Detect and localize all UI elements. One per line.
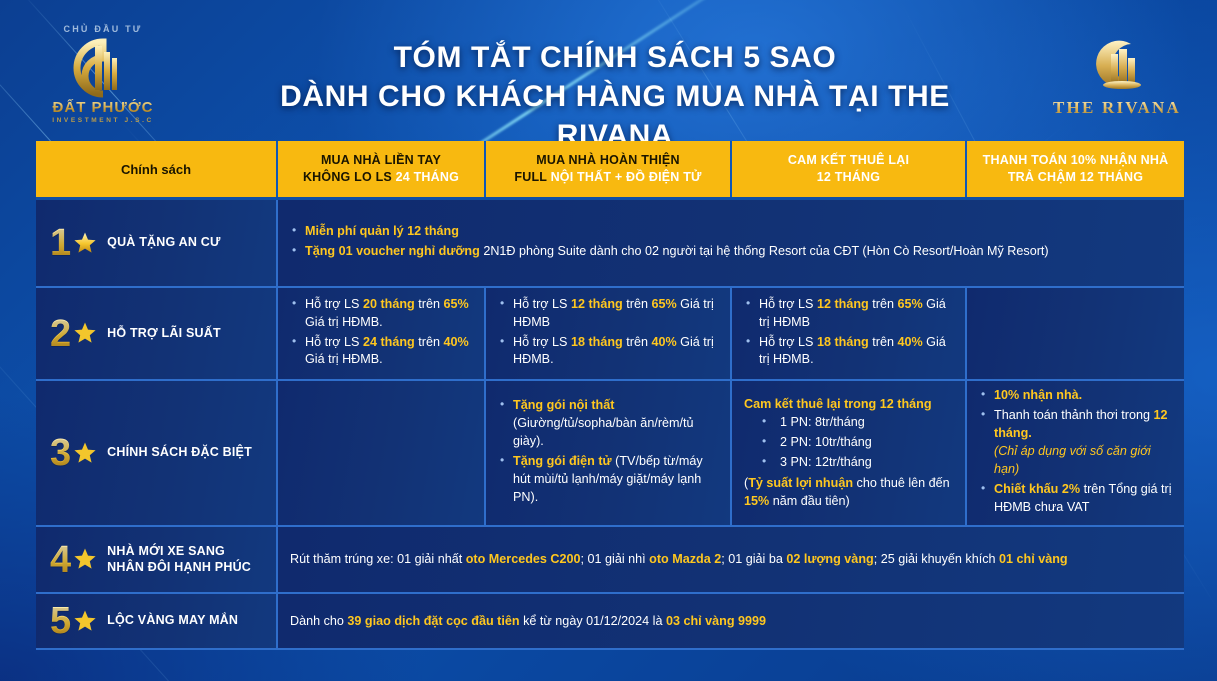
row-2-col-buy-now: Hỗ trợ LS 20 tháng trên 65% Giá trị HĐMB…	[278, 288, 486, 381]
title-line-1: TÓM TẮT CHÍNH SÁCH 5 SAO	[394, 41, 837, 74]
star-icon	[73, 231, 97, 260]
text-run: 65%	[651, 297, 676, 311]
row-5-text: Dành cho 39 giao dịch đặt cọc đầu tiên k…	[290, 612, 1172, 631]
table-row: 2 HỖ TRỢ LÃI SUẤT Hỗ trợ LS 20 tháng trê…	[36, 288, 1184, 381]
col2-line1: MUA NHÀ LIỀN TAY	[321, 153, 441, 167]
list-item: Tặng 01 voucher nghỉ dưỡng 2N1Đ phòng Su…	[290, 243, 1172, 261]
star-icon	[73, 547, 97, 576]
text-run: 39 giao dịch đặt cọc đầu tiên	[347, 614, 519, 628]
row-4-label: 4 NHÀ MỚI XE SANG NHÂN ĐÔI HẠNH PHÚC	[36, 527, 278, 594]
text-run: 01 chỉ vàng	[999, 552, 1068, 566]
row-2-col2-bullets: Hỗ trợ LS 20 tháng trên 65% Giá trị HĐMB…	[290, 296, 472, 372]
text-run: 65%	[897, 297, 922, 311]
row-3-col-full-furnished: Tặng gói nội thất (Giường/tủ/sopha/bàn ă…	[486, 381, 732, 527]
row-3-col-rental: Cam kết thuê lại trong 12 tháng 1 PN: 8t…	[732, 381, 967, 527]
col3-line2-white: NỘI THẤT + ĐỒ ĐIỆN TỬ	[551, 170, 702, 184]
column-header-buy-now: MUA NHÀ LIỀN TAY KHÔNG LO LS 24 THÁNG	[278, 141, 486, 197]
col5-line1: THANH TOÁN 10% NHẬN NHÀ	[983, 153, 1169, 167]
text-run: 40%	[443, 335, 468, 349]
text-run: ; 25 giải khuyến khích	[874, 552, 999, 566]
text-run: 12 tháng	[817, 297, 869, 311]
text-run: kể từ ngày 01/12/2024 là	[520, 614, 666, 628]
star-icon	[73, 609, 97, 638]
project-name: THE RIVANA	[1047, 98, 1187, 118]
text-run: Hỗ trợ LS	[305, 297, 363, 311]
row-1-content: Miễn phí quản lý 12 tháng Tặng 01 vouche…	[278, 200, 1184, 288]
col4-line1: CAM KẾT THUÊ LẠI	[788, 153, 909, 167]
row-1-label: 1 QUÀ TẶNG AN CƯ	[36, 200, 278, 288]
policy-table: Chính sách MUA NHÀ LIỀN TAY KHÔNG LO LS …	[36, 141, 1184, 650]
text-run: (Chỉ áp dụng với số căn giới hạn)	[994, 443, 1172, 479]
text-run: 20 tháng	[363, 297, 415, 311]
list-item: 3 PN: 12tr/tháng	[744, 454, 953, 472]
text-run: Hỗ trợ LS	[513, 297, 571, 311]
list-item: Tặng gói điện tử (TV/bếp từ/máy hút mùi/…	[498, 453, 718, 507]
text-run: Giá trị HĐMB.	[305, 315, 383, 329]
list-item: Hỗ trợ LS 18 tháng trên 40% Giá trị HĐMB…	[744, 334, 953, 370]
row-2-col4-bullets: Hỗ trợ LS 12 tháng trên 65% Giá trị HĐMB…	[744, 296, 953, 372]
text-run: 12 tháng	[571, 297, 623, 311]
text-run: 10% nhận nhà.	[994, 388, 1082, 402]
text-run: trên	[415, 335, 444, 349]
text-run: Thanh toán thảnh thơi trong	[994, 408, 1154, 422]
text-run: năm đầu tiên)	[769, 494, 850, 508]
text-run: cho thuê lên đến	[853, 476, 950, 490]
row-2-col-installment	[967, 288, 1184, 381]
row-2-col3-bullets: Hỗ trợ LS 12 tháng trên 65% Giá trị HĐMB…	[498, 296, 718, 372]
text-run: 15%	[744, 494, 769, 508]
row-3-rental-lead: Cam kết thuê lại trong 12 tháng	[744, 395, 953, 413]
row-5-label: 5 LỘC VÀNG MAY MẮN	[36, 594, 278, 650]
list-item: 1 PN: 8tr/tháng	[744, 414, 953, 432]
row-3-rental-items: 1 PN: 8tr/tháng 2 PN: 10tr/tháng 3 PN: 1…	[744, 414, 953, 474]
text-run: 40%	[651, 335, 676, 349]
list-item: 2 PN: 10tr/tháng	[744, 434, 953, 452]
star-icon	[73, 321, 97, 350]
list-item: Tặng gói nội thất (Giường/tủ/sopha/bàn ă…	[498, 397, 718, 451]
row-3-col-buy-now	[278, 381, 486, 527]
column-header-rental-commitment: CAM KẾT THUÊ LẠI 12 THÁNG	[732, 141, 967, 197]
text-run: Giá trị HĐMB.	[305, 352, 383, 366]
text-run: Rút thăm trúng xe: 01 giải nhất	[290, 552, 466, 566]
row-5-content: Dành cho 39 giao dịch đặt cọc đầu tiên k…	[278, 594, 1184, 650]
col3-line1: MUA NHÀ HOÀN THIỆN	[536, 153, 679, 167]
investor-logo: CHỦ ĐẦU TƯ ĐẤT PHƯỚC INVESTMENT J.S.C	[42, 24, 164, 124]
text-run: (Giường/tủ/sopha/bàn ăn/rèm/tủ giày).	[513, 416, 694, 448]
table-header-row: Chính sách MUA NHÀ LIỀN TAY KHÔNG LO LS …	[36, 141, 1184, 200]
list-item: Chiết khấu 2% trên Tổng giá trị HĐMB chư…	[979, 481, 1172, 517]
text-run: 18 tháng	[817, 335, 869, 349]
list-item: Thanh toán thảnh thơi trong 12 tháng.(Ch…	[979, 407, 1172, 479]
row-3-col-installment: 10% nhận nhà.Thanh toán thảnh thơi trong…	[967, 381, 1184, 527]
the-rivana-logo-icon	[1084, 36, 1150, 96]
row-4-content: Rút thăm trúng xe: 01 giải nhất oto Merc…	[278, 527, 1184, 594]
column-header-policy-label: Chính sách	[121, 162, 191, 177]
dat-phuoc-logo-icon	[67, 36, 139, 98]
text-run: Hỗ trợ LS	[513, 335, 571, 349]
text-run: oto Mercedes C200	[466, 552, 581, 566]
row-5-rank: 5	[50, 602, 71, 640]
text-run: trên	[623, 297, 652, 311]
text-run: ; 01 giải ba	[721, 552, 786, 566]
investor-subtitle: INVESTMENT J.S.C	[42, 117, 164, 124]
investor-name: ĐẤT PHƯỚC	[42, 99, 164, 116]
list-item: Hỗ trợ LS 12 tháng trên 65% Giá trị HĐMB	[498, 296, 718, 332]
text-run: trên	[869, 297, 898, 311]
table-row: 4 NHÀ MỚI XE SANG NHÂN ĐÔI HẠNH PHÚC Rút…	[36, 527, 1184, 594]
row-4-name: NHÀ MỚI XE SANG NHÂN ĐÔI HẠNH PHÚC	[107, 544, 251, 575]
row-1-bullets: Miễn phí quản lý 12 tháng Tặng 01 vouche…	[290, 223, 1172, 263]
col2-line2-dark: KHÔNG LO LS	[303, 170, 396, 184]
text-run: 24 tháng	[363, 335, 415, 349]
text-run: Tỷ suất lợi nhuận	[748, 476, 853, 490]
column-header-installment: THANH TOÁN 10% NHẬN NHÀ TRẢ CHẬM 12 THÁN…	[967, 141, 1184, 197]
row-1-rank: 1	[50, 224, 71, 262]
list-item: Hỗ trợ LS 24 tháng trên 40% Giá trị HĐMB…	[290, 334, 472, 370]
investor-caption: CHỦ ĐẦU TƯ	[42, 24, 164, 34]
col5-line2: TRẢ CHẬM 12 THÁNG	[1008, 170, 1143, 184]
row-2-col-rental: Hỗ trợ LS 12 tháng trên 65% Giá trị HĐMB…	[732, 288, 967, 381]
text-run: oto Mazda 2	[649, 552, 721, 566]
table-row: 5 LỘC VÀNG MAY MẮN Dành cho 39 giao dịch…	[36, 594, 1184, 650]
text-run: Chiết khấu 2%	[994, 482, 1080, 496]
row-3-rental-note: (Tỷ suất lợi nhuận cho thuê lên đến 15% …	[744, 474, 953, 512]
list-item: 10% nhận nhà.	[979, 387, 1172, 405]
list-item: Hỗ trợ LS 18 tháng trên 40% Giá trị HĐMB…	[498, 334, 718, 370]
row-3-col5-bullets: 10% nhận nhà.Thanh toán thảnh thơi trong…	[979, 387, 1172, 518]
row-2-rank: 2	[50, 315, 71, 353]
text-run: 18 tháng	[571, 335, 623, 349]
row-3-col3-bullets: Tặng gói nội thất (Giường/tủ/sopha/bàn ă…	[498, 397, 718, 508]
text-run: 65%	[443, 297, 468, 311]
text-run: Tặng gói nội thất	[513, 398, 614, 412]
col4-line2: 12 THÁNG	[817, 170, 880, 184]
row-2-name: HỖ TRỢ LÃI SUẤT	[107, 326, 221, 342]
text-run: trên	[869, 335, 898, 349]
table-row: 3 CHÍNH SÁCH ĐẶC BIỆT Tặng gói nội thất …	[36, 381, 1184, 527]
list-item: Miễn phí quản lý 12 tháng	[290, 223, 1172, 241]
text-run: Hỗ trợ LS	[759, 297, 817, 311]
text-run: trên	[415, 297, 444, 311]
text-run: Tặng gói điện tử	[513, 454, 612, 468]
column-header-policy: Chính sách	[36, 141, 278, 197]
text-run: Dành cho	[290, 614, 347, 628]
text-run: 40%	[897, 335, 922, 349]
col3-line2-dark: FULL	[514, 170, 550, 184]
row-3-rank: 3	[50, 434, 71, 472]
text-run: 02 lượng vàng	[786, 552, 873, 566]
star-icon	[73, 441, 97, 470]
row-5-name: LỘC VÀNG MAY MẮN	[107, 613, 238, 629]
project-logo: THE RIVANA	[1047, 36, 1187, 118]
page-title: TÓM TẮT CHÍNH SÁCH 5 SAO DÀNH CHO KHÁCH …	[220, 38, 1010, 155]
row-4-text: Rút thăm trúng xe: 01 giải nhất oto Merc…	[290, 550, 1172, 569]
header: CHỦ ĐẦU TƯ ĐẤT PHƯỚC INVESTMENT J.S.C TÓ…	[0, 0, 1217, 140]
row-4-rank: 4	[50, 541, 71, 579]
row-1-name: QUÀ TẶNG AN CƯ	[107, 235, 220, 251]
table-row: 1 QUÀ TẶNG AN CƯ Miễn phí quản lý 12 thá…	[36, 200, 1184, 288]
text-run: Hỗ trợ LS	[759, 335, 817, 349]
column-header-full-furnished: MUA NHÀ HOÀN THIỆN FULL NỘI THẤT + ĐỒ ĐI…	[486, 141, 732, 197]
col2-line2-white: 24 THÁNG	[396, 170, 459, 184]
list-item: Hỗ trợ LS 20 tháng trên 65% Giá trị HĐMB…	[290, 296, 472, 332]
row-3-label: 3 CHÍNH SÁCH ĐẶC BIỆT	[36, 381, 278, 527]
text-run: 03 chỉ vàng 9999	[666, 614, 766, 628]
text-run: Hỗ trợ LS	[305, 335, 363, 349]
list-item: Hỗ trợ LS 12 tháng trên 65% Giá trị HĐMB	[744, 296, 953, 332]
text-run: trên	[623, 335, 652, 349]
row-3-name: CHÍNH SÁCH ĐẶC BIỆT	[107, 445, 252, 461]
row-2-col-full-furnished: Hỗ trợ LS 12 tháng trên 65% Giá trị HĐMB…	[486, 288, 732, 381]
text-run: ; 01 giải nhì	[581, 552, 650, 566]
row-2-label: 2 HỖ TRỢ LÃI SUẤT	[36, 288, 278, 381]
